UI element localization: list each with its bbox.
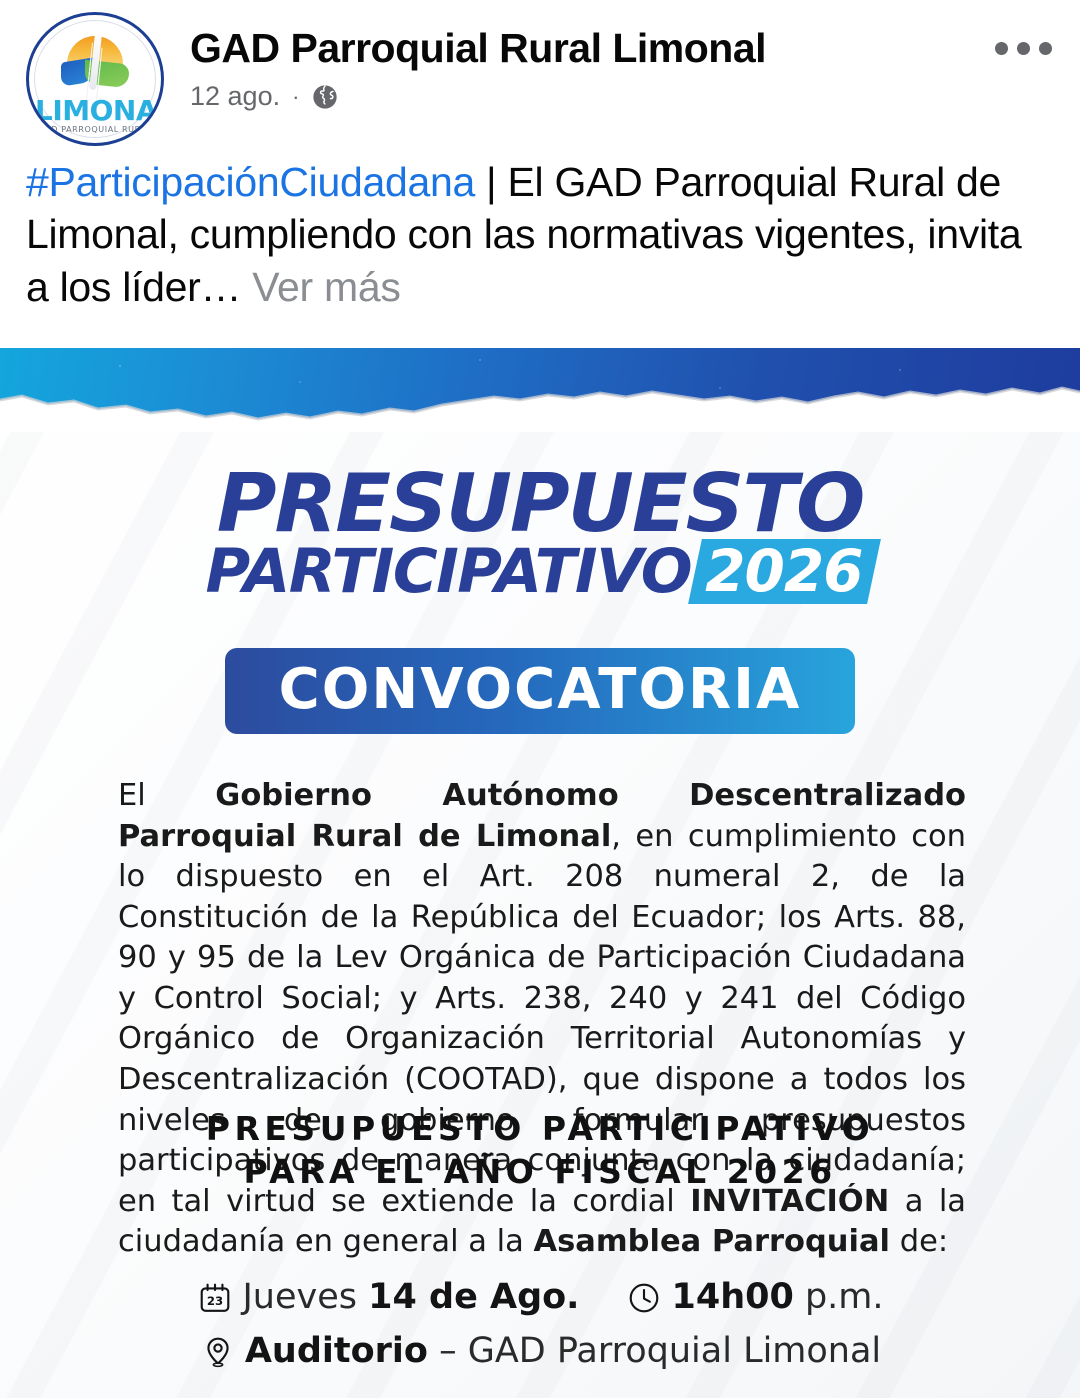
post-attached-image[interactable]: PRESUPUESTO PARTICIPATIVO 2026 CONVOCATO… [0, 348, 1080, 1398]
avatar-badge-name: LIMONAL [35, 97, 155, 125]
detail-row-place: Auditorio – GAD Parroquial Limonal [0, 1327, 1080, 1377]
meta-separator: · [292, 86, 299, 108]
globe-icon[interactable] [311, 83, 339, 111]
flyer-subject: PRESUPUESTO PARTICIPATIVO PARA EL AÑO FI… [0, 1108, 1080, 1194]
facebook-post-screenshot: LIMONAL GAD PARROQUIAL RURAL GAD Parroqu… [0, 0, 1080, 1398]
flyer-subject-line1: PRESUPUESTO PARTICIPATIVO [0, 1108, 1080, 1151]
avatar-badge-inner: LIMONAL GAD PARROQUIAL RURAL [34, 20, 156, 138]
flyer-details: 23 Jueves 14 de Ago. 14 [0, 1273, 1080, 1376]
flyer-year-badge: 2026 [688, 539, 881, 604]
location-pin-icon [199, 1333, 237, 1371]
see-more-link[interactable]: Ver más [252, 264, 400, 310]
convocatoria-banner-wrap: CONVOCATORIA [0, 648, 1080, 734]
detail-date: 23 Jueves 14 de Ago. [196, 1273, 579, 1323]
detail-row-date-time: 23 Jueves 14 de Ago. 14 [0, 1273, 1080, 1323]
post-hashtag-link[interactable]: #ParticipaciónCiudadana [26, 159, 475, 205]
detail-place: Auditorio – GAD Parroquial Limonal [199, 1327, 881, 1377]
detail-time-value: 14h00 [671, 1273, 793, 1323]
post-message: #ParticipaciónCiudadana | El GAD Parroqu… [0, 150, 1080, 313]
convocatoria-label: CONVOCATORIA [279, 662, 802, 718]
avatar-badge: LIMONAL GAD PARROQUIAL RURAL [26, 12, 164, 146]
page-title[interactable]: GAD Parroquial Rural Limonal [190, 26, 988, 71]
post-header-text: GAD Parroquial Rural Limonal 12 ago. · [190, 10, 988, 112]
flyer-year-value: 2026 [705, 542, 862, 600]
flyer-subject-line2: PARA EL AÑO FISCAL 2026 [0, 1151, 1080, 1194]
calendar-day-number: 23 [207, 1294, 223, 1308]
convocatoria-banner: CONVOCATORIA [225, 648, 856, 734]
avatar[interactable]: LIMONAL GAD PARROQUIAL RURAL [22, 12, 168, 146]
post-meta: 12 ago. · [190, 81, 988, 112]
flyer-title-line1: PRESUPUESTO [0, 466, 1080, 543]
post-timestamp[interactable]: 12 ago. [190, 81, 280, 112]
detail-time-suffix: p.m. [805, 1273, 884, 1323]
limonal-emblem-icon [59, 36, 131, 86]
detail-time: 14h00 p.m. [625, 1273, 883, 1323]
clock-icon [625, 1279, 663, 1317]
avatar-badge-subtitle: GAD PARROQUIAL RURAL [35, 125, 155, 134]
detail-place-value: Auditorio [245, 1327, 428, 1377]
detail-date-value: 14 de Ago. [368, 1273, 579, 1323]
detail-date-prefix: Jueves [242, 1273, 357, 1323]
flyer-title-block: PRESUPUESTO PARTICIPATIVO 2026 [0, 466, 1080, 604]
detail-place-detail: – GAD Parroquial Limonal [439, 1327, 881, 1377]
calendar-icon: 23 [196, 1279, 234, 1317]
more-options-icon[interactable] [988, 28, 1058, 68]
post-header: LIMONAL GAD PARROQUIAL RURAL GAD Parroqu… [0, 0, 1080, 150]
